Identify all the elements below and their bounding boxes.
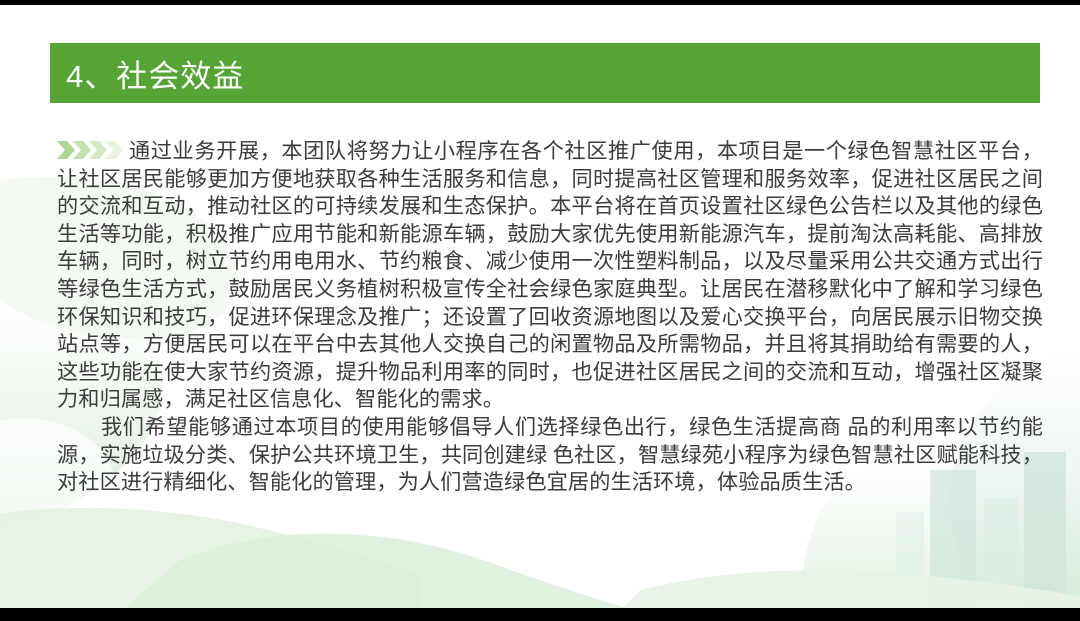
paragraph-social-benefit-vision: 我们希望能够通过本项目的使用能够倡导人们选择绿色出行，绿色生活提高商 品的利用率… — [57, 414, 1043, 497]
body-content: 通过业务开展，本团队将努力让小程序在各个社区推广使用，本项目是一个绿色智慧社区平… — [57, 138, 1043, 497]
letterbox-bar-top — [0, 0, 1080, 5]
chevron-arrows-decoration-icon — [57, 139, 129, 161]
page-title: 4、社会效益 — [50, 51, 244, 96]
slide-canvas: 4、社会效益 通过业务开展，本团队将努力让小程序在各个社区推广使用，本项目是一个… — [0, 0, 1080, 621]
paragraph-social-benefit-overview: 通过业务开展，本团队将努力让小程序在各个社区推广使用，本项目是一个绿色智慧社区平… — [57, 138, 1043, 414]
letterbox-bar-bottom — [0, 608, 1080, 621]
section-title-banner: 4、社会效益 — [50, 43, 1040, 103]
